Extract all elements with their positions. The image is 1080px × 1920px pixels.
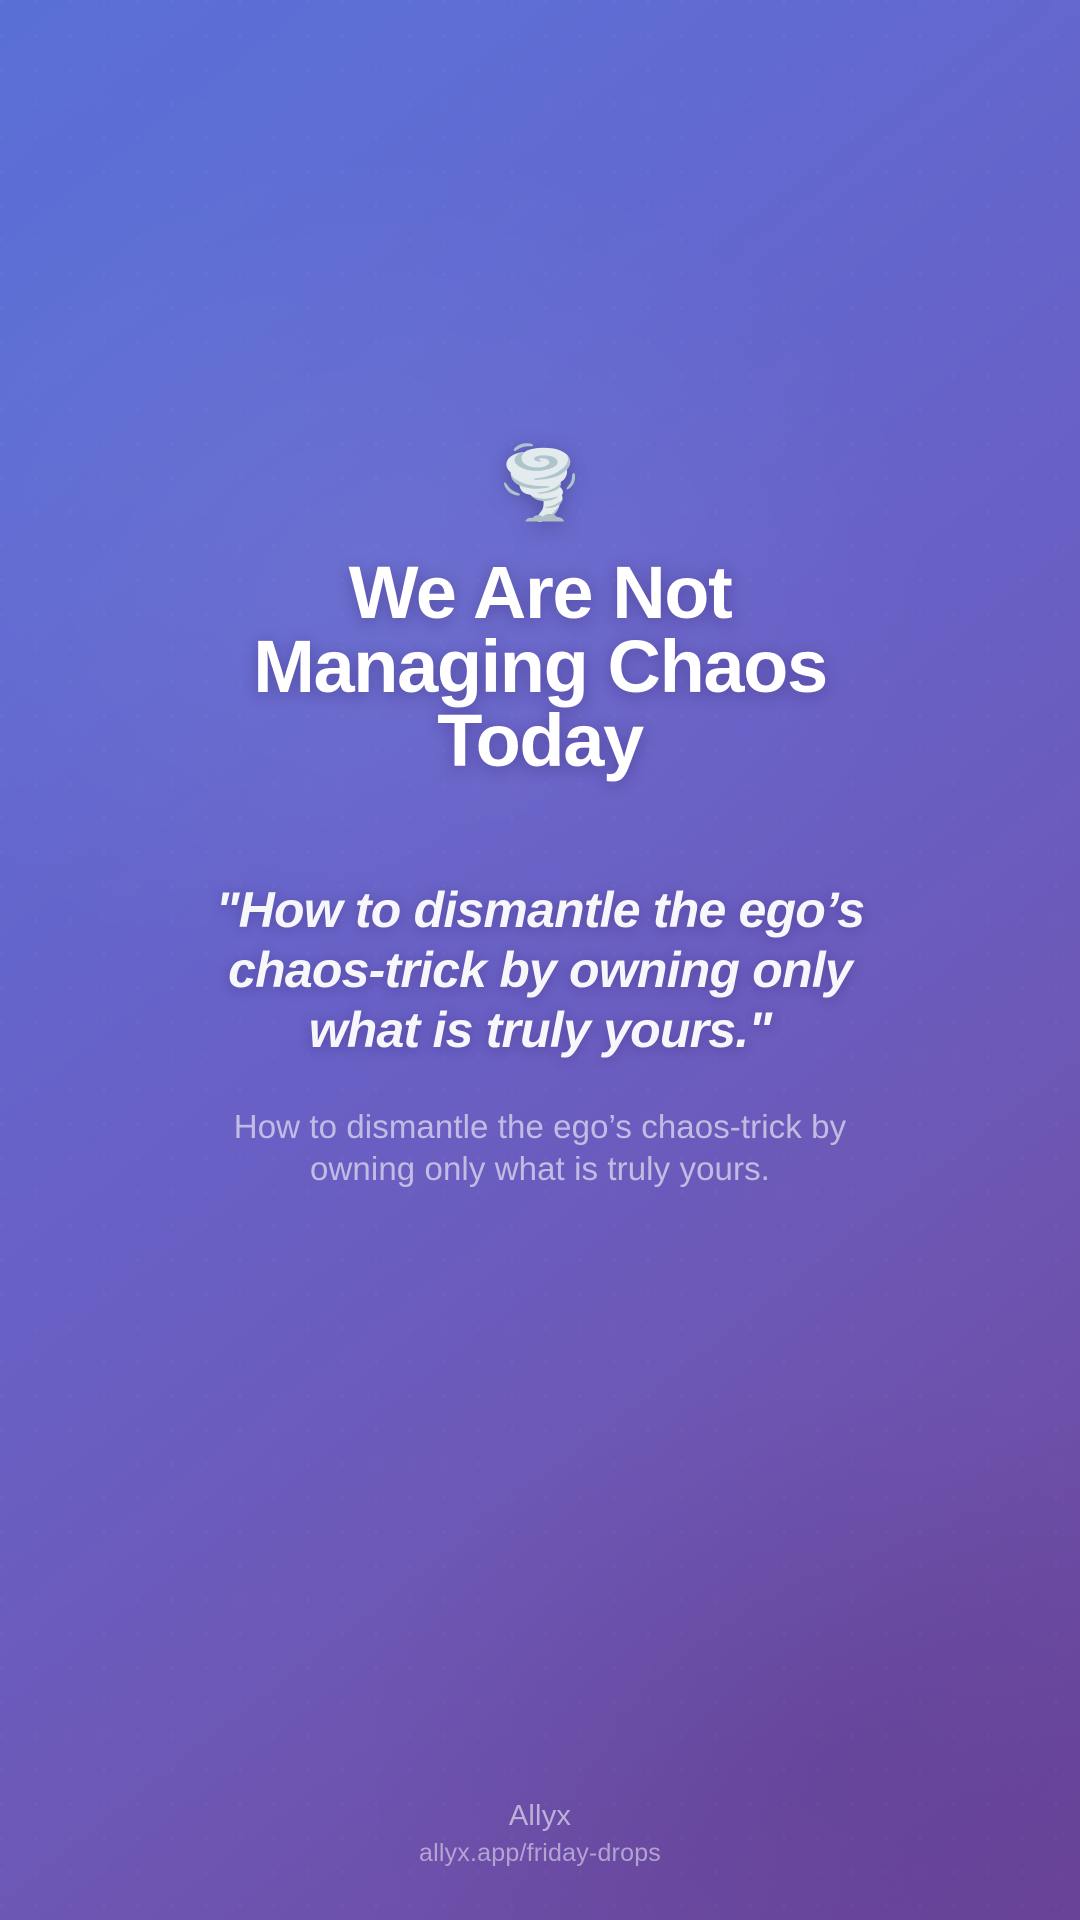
quote-line-1: "How to dismantle the ego’s	[216, 882, 865, 938]
quote-line-2: chaos-trick by owning only	[228, 942, 852, 998]
quote-line-3: what is truly yours."	[309, 1002, 772, 1058]
subtitle-line-2: owning only what is truly yours.	[310, 1150, 770, 1187]
brand-url: allyx.app/friday-drops	[419, 1838, 661, 1868]
headline-line-3: Today	[437, 699, 642, 782]
tornado-emoji: 🌪️	[496, 444, 583, 522]
pull-quote: "How to dismantle the ego’s chaos-trick …	[100, 880, 980, 1060]
poster-content: 🌪️ We Are Not Managing Chaos Today "How …	[0, 0, 1080, 1920]
brand-name: Allyx	[509, 1799, 571, 1834]
quote-poster: 🌪️ We Are Not Managing Chaos Today "How …	[0, 0, 1080, 1920]
subtitle-line-1: How to dismantle the ego’s chaos-trick b…	[234, 1108, 846, 1145]
subtitle-description: How to dismantle the ego’s chaos-trick b…	[200, 1106, 880, 1192]
poster-footer: Allyx allyx.app/friday-drops	[0, 1799, 1080, 1868]
page-title: We Are Not Managing Chaos Today	[90, 556, 990, 778]
headline-line-1: We Are Not	[349, 551, 732, 634]
headline-line-2: Managing Chaos	[253, 625, 826, 708]
